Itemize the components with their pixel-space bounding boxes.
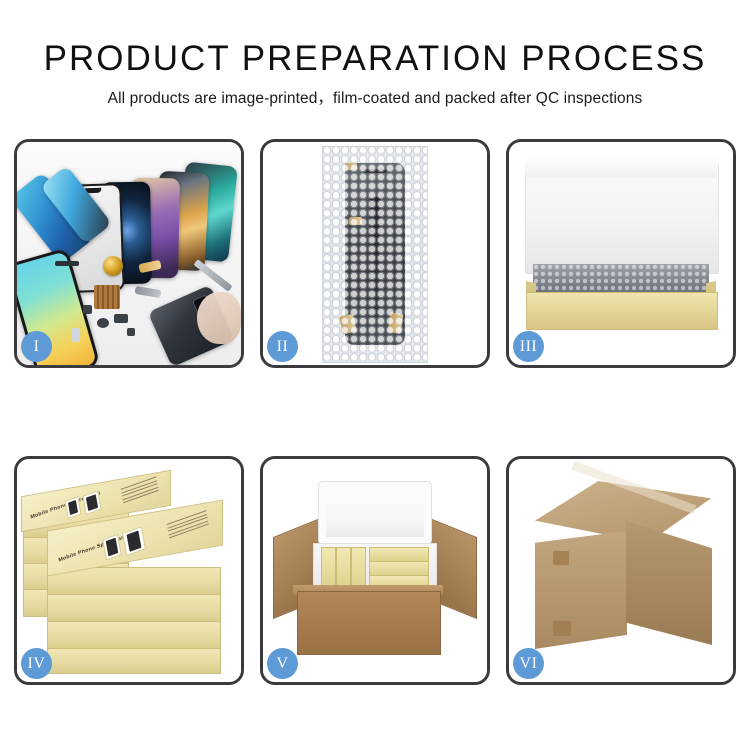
top-box-a-spec-lines [121,476,159,505]
process-panel-6: VI [506,456,736,685]
screw-part-icon [83,305,92,314]
process-panel-4: Mobile Phone Spare Parts Mobile Phone Sp… [14,456,244,685]
box-stack: Mobile Phone Spare Parts Mobile Phone Sp… [17,459,241,682]
flex-cable-icon [370,197,381,317]
poster-root: PRODUCT PREPARATION PROCESS All products… [0,0,750,750]
process-panel-grid: I II [14,139,736,690]
panel-6-step-badge: VI [513,648,544,679]
button-part-icon [97,318,109,328]
panel-1-image [17,142,241,365]
gold-tab-lower-right-icon [388,312,404,334]
carton-front-icon [297,591,441,655]
panel-2-step-badge: II [267,331,298,362]
hand-icon [197,292,241,344]
sim-tray-icon [127,328,135,336]
process-panel-1: I [14,139,244,368]
yellow-box-5 [369,561,429,576]
chip-grid-icon [94,285,120,309]
stacked-box-r2 [47,594,221,623]
carton-side-face-icon [626,521,712,645]
panel-3-step-badge: III [513,331,544,362]
process-panel-5: V [260,456,490,685]
foam-lid-icon [318,481,432,545]
antenna-strip-icon [55,261,79,266]
yellow-box-4 [369,547,429,562]
top-box-b-spec-lines [167,510,209,541]
top-box-a-thumb-1 [64,496,81,519]
header: PRODUCT PREPARATION PROCESS All products… [0,38,750,108]
panel-3-image [509,142,733,365]
camera-module-icon [114,314,128,323]
carton-tab-lower-icon [553,621,571,636]
bubble-bag-icon [322,146,428,363]
top-box-a-thumb-2 [82,490,101,515]
stacked-box-r3 [47,621,221,650]
panel-1-step-badge: I [21,331,52,362]
stacked-box-r4 [47,648,221,674]
top-box-b-thumb-1 [102,534,122,561]
top-box-b-thumb-2 [122,526,146,556]
process-panel-3: III [506,139,736,368]
gold-tab-mid-icon [349,217,362,225]
battery-part-icon [72,328,80,342]
panel-5-step-badge: V [267,648,298,679]
speaker-coil-icon [103,256,123,276]
page-title: PRODUCT PREPARATION PROCESS [0,38,750,80]
panel-4-step-badge: IV [21,648,52,679]
box-front-panel-icon [526,292,718,330]
carton-tab-upper-icon [553,551,569,565]
panel-4-image: Mobile Phone Spare Parts Mobile Phone Sp… [17,459,241,682]
carton-front-face-icon [535,531,627,649]
panel-2-image [263,142,487,365]
box-lid-top-edge-icon [525,156,717,178]
panel-5-image [263,459,487,682]
page-subtitle: All products are image-printed，film-coat… [0,86,750,108]
process-panel-2: II [260,139,490,368]
panel-6-image [509,459,733,682]
bubble-padding-icon [533,264,709,294]
gold-tab-top-icon [345,163,357,170]
